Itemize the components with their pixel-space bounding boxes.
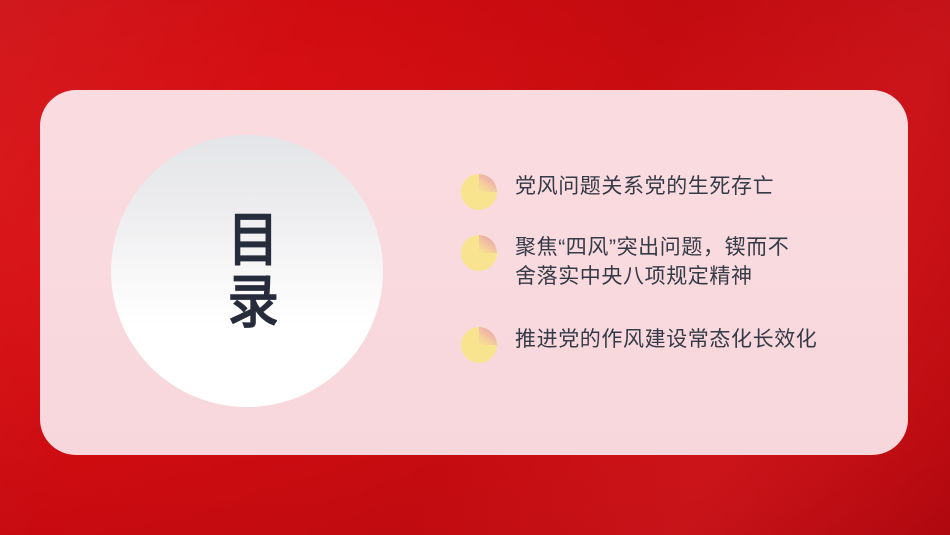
pie-quadrant-dot-icon bbox=[461, 174, 497, 210]
pie-quadrant-dot-icon bbox=[461, 327, 497, 363]
list-item-label: 推进党的作风建设常态化长效化 bbox=[515, 325, 817, 354]
table-of-contents-badge: 目录 bbox=[111, 135, 383, 407]
list-item[interactable]: 聚焦“四风”突出问题，锲而不 舍落实中央八项规定精神 bbox=[461, 233, 901, 291]
list-item-label: 聚焦“四风”突出问题，锲而不 舍落实中央八项规定精神 bbox=[515, 233, 789, 291]
presentation-slide: 目录 党风问题关系党的生死存亡 聚焦“四风”突出问题，锲而不 舍落实中央八项规定… bbox=[0, 0, 950, 535]
list-item[interactable]: 党风问题关系党的生死存亡 bbox=[461, 172, 901, 210]
table-of-contents-title: 目录 bbox=[220, 209, 274, 333]
pie-quadrant-dot-icon bbox=[461, 235, 497, 271]
table-of-contents-list: 党风问题关系党的生死存亡 聚焦“四风”突出问题，锲而不 舍落实中央八项规定精神 … bbox=[461, 90, 901, 455]
content-card: 目录 党风问题关系党的生死存亡 聚焦“四风”突出问题，锲而不 舍落实中央八项规定… bbox=[40, 90, 908, 455]
list-item-label: 党风问题关系党的生死存亡 bbox=[515, 172, 774, 201]
list-item[interactable]: 推进党的作风建设常态化长效化 bbox=[461, 325, 901, 363]
